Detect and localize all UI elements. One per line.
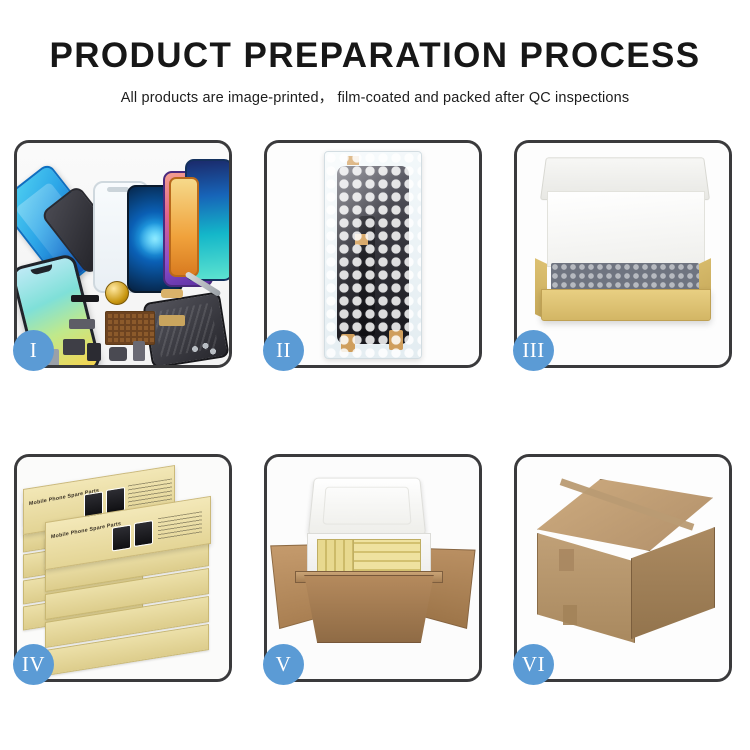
component-chip-grid-icon: [105, 311, 155, 345]
step-badge-1: I: [13, 330, 54, 371]
component-coin-icon: [105, 281, 129, 305]
step-2-image: [267, 143, 479, 365]
carton-front: [297, 575, 441, 643]
product-preparation-infographic: PRODUCT PREPARATION PROCESS All products…: [0, 0, 750, 750]
step-panel-4: Mobile Phone Spare Parts Mobile Phone Sp…: [14, 454, 232, 682]
step-badge-6: VI: [513, 644, 554, 685]
component-part-c: [69, 319, 95, 329]
step-badge-4: IV: [13, 644, 54, 685]
step-4-image: Mobile Phone Spare Parts Mobile Phone Sp…: [17, 457, 229, 679]
process-steps-grid: I II: [14, 140, 736, 682]
step-5-image: [267, 457, 479, 679]
bubble-wrap-bag-icon: [324, 151, 422, 359]
foam-cooler-lid: [308, 478, 426, 536]
page-title: PRODUCT PREPARATION PROCESS: [0, 38, 750, 73]
box-label-front: Mobile Phone Spare Parts: [51, 521, 121, 541]
step-badge-2: II: [263, 330, 304, 371]
plastic-sheen: [325, 152, 421, 358]
carton-tape-patch-1: [559, 549, 574, 571]
screws-icon: [189, 341, 219, 357]
box-feature-lines-front: [158, 511, 202, 540]
step-panel-2: II: [264, 140, 482, 368]
component-part-b: [161, 289, 183, 298]
carton-tape-patch-2: [563, 605, 577, 625]
page-subtitle: All products are image-printed， film-coa…: [0, 86, 750, 107]
foam-sheet: [547, 191, 705, 267]
step-3-image: [517, 143, 729, 365]
component-part-f: [87, 343, 101, 361]
step-1-image: [17, 143, 229, 365]
box-thumbnail-front-1: [112, 525, 131, 552]
step-panel-1: I: [14, 140, 232, 368]
step-panel-3: III: [514, 140, 732, 368]
phone-orange-icon: [169, 177, 199, 277]
component-part-e: [159, 315, 185, 326]
box-stack: Mobile Phone Spare Parts Mobile Phone Sp…: [17, 457, 229, 679]
component-part-a: [71, 295, 99, 302]
box-front-panel: [541, 289, 711, 321]
step-badge-3: III: [513, 330, 554, 371]
component-part-h: [133, 341, 145, 361]
carton-left-face: [537, 533, 635, 643]
step-6-image: [517, 457, 729, 679]
step-badge-5: V: [263, 644, 304, 685]
box-thumbnail-front-2: [134, 520, 153, 547]
component-part-g: [109, 347, 127, 361]
step-panel-6: VI: [514, 454, 732, 682]
step-panel-5: V: [264, 454, 482, 682]
header: PRODUCT PREPARATION PROCESS All products…: [0, 0, 750, 107]
component-part-d: [63, 339, 85, 355]
